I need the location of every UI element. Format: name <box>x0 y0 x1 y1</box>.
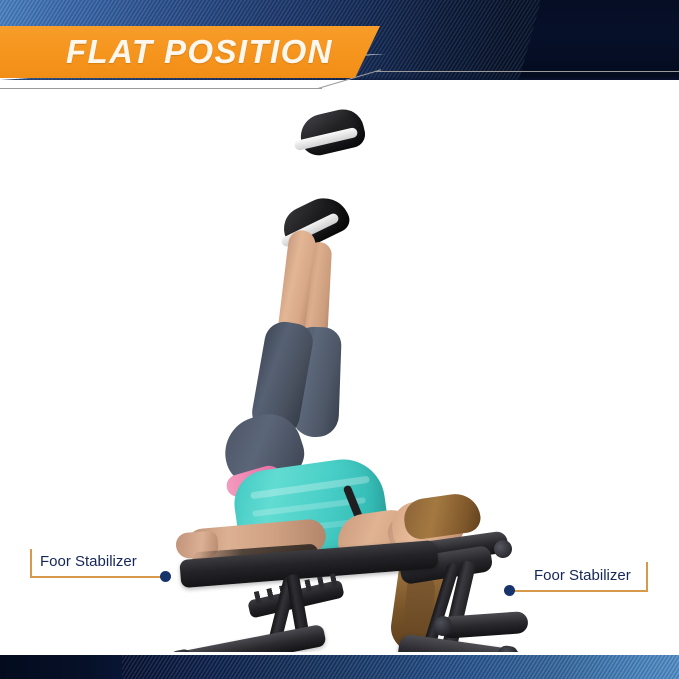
bench-lower-roller-cap <box>434 616 452 636</box>
callout-right-bracket-vertical <box>646 562 648 592</box>
header-rule-right <box>375 71 679 72</box>
hair <box>402 491 483 541</box>
floor-stabilizer-rear-tip <box>497 645 519 652</box>
footer-banner <box>0 655 679 679</box>
callout-left-bracket-vertical <box>30 549 32 578</box>
header-rule-diagonal <box>318 70 380 89</box>
bench-lower-roller <box>439 611 528 639</box>
callout-left-bracket-horizontal <box>30 576 164 578</box>
callout-right-label: Foor Stabilizer <box>534 567 631 585</box>
callout-right-dot <box>504 585 515 596</box>
footer-solid-left <box>0 655 122 679</box>
header-dark-wedge <box>519 0 679 80</box>
product-feature-image: FLAT POSITION <box>0 0 679 679</box>
callout-right-bracket-horizontal <box>512 590 648 592</box>
floor-stabilizer-front <box>175 624 326 652</box>
callout-left-dot <box>160 571 171 582</box>
page-title: FLAT POSITION <box>66 30 333 74</box>
header-rule-left <box>0 88 322 89</box>
callout-left-label: Foor Stabilizer <box>40 553 137 571</box>
bench-upper-roller-cap <box>493 539 513 559</box>
